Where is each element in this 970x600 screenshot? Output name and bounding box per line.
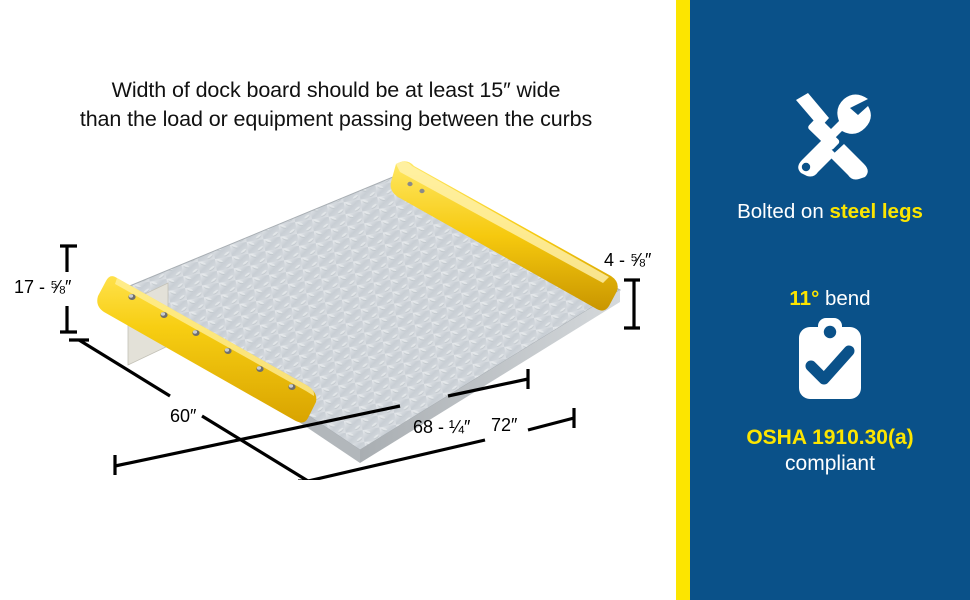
dimension-label-depth: 60″ bbox=[170, 406, 196, 427]
caption-highlight: OSHA 1910.30(a) bbox=[690, 425, 970, 451]
feature-bend-angle: 11° bend bbox=[690, 272, 970, 312]
caption-plain: compliant bbox=[690, 451, 970, 477]
infographic-root: Width of dock board should be at least 1… bbox=[0, 0, 970, 600]
feature-steel-legs-caption: Bolted on steel legs bbox=[690, 199, 970, 225]
headline-line-1: Width of dock board should be at least 1… bbox=[112, 78, 561, 102]
dimension-label-overall-width: 72″ bbox=[491, 415, 517, 436]
feature-osha-caption: OSHA 1910.30(a) compliant bbox=[690, 425, 970, 477]
feature-bend-caption: 11° bend bbox=[690, 286, 970, 312]
feature-steel-legs: Bolted on steel legs bbox=[690, 88, 970, 225]
wrench-screwdriver-icon bbox=[690, 88, 970, 185]
caption-plain: bend bbox=[819, 287, 870, 310]
dimension-label-lip-height: 4 - ⅝″ bbox=[604, 250, 651, 271]
feature-osha-compliant: OSHA 1910.30(a) compliant bbox=[690, 318, 970, 477]
clipboard-check-icon bbox=[690, 318, 970, 407]
dimension-label-usable-width: 68 - ¼″ bbox=[413, 417, 470, 438]
caption-highlight: steel legs bbox=[829, 200, 922, 223]
headline: Width of dock board should be at least 1… bbox=[36, 76, 636, 134]
product-illustration-panel: Width of dock board should be at least 1… bbox=[0, 0, 672, 600]
caption-plain: Bolted on bbox=[737, 200, 829, 223]
dock-board-illustration bbox=[60, 150, 640, 480]
feature-panel: Bolted on steel legs 11° bend OSHA 1910.… bbox=[690, 0, 970, 600]
headline-line-2: than the load or equipment passing betwe… bbox=[80, 107, 592, 131]
dimension-label-height: 17 - ⅝″ bbox=[14, 277, 71, 298]
caption-highlight: 11° bbox=[789, 287, 819, 310]
yellow-divider-stripe bbox=[676, 0, 690, 600]
dimension-lip bbox=[624, 280, 640, 328]
